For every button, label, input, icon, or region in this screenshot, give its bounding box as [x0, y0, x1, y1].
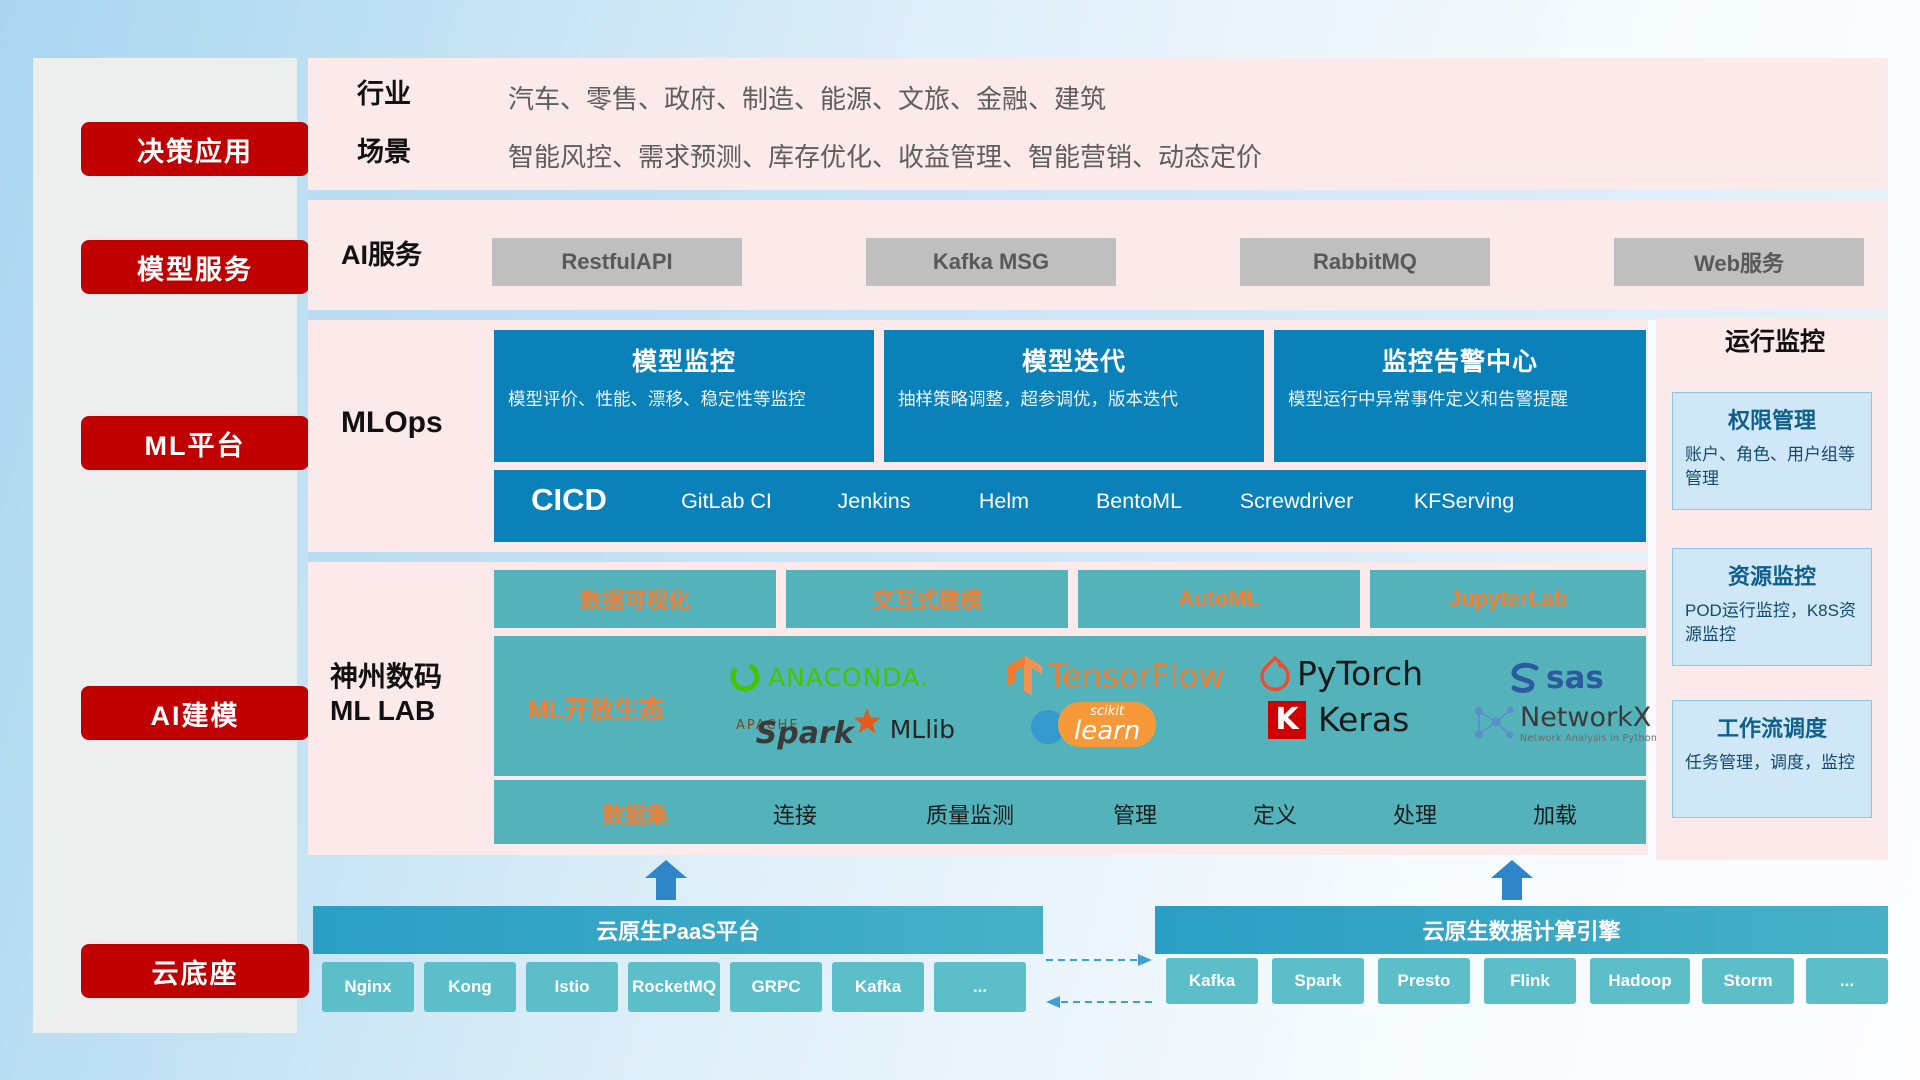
ml-lab-label-line1: 神州数码 [330, 660, 442, 694]
scikit-learn-badge: scikit learn [1058, 702, 1156, 747]
keras-logo: K Keras [1268, 700, 1409, 739]
cicd-item-kfserving[interactable]: KFServing [1384, 470, 1544, 515]
tensorflow-label: TensorFlow [1048, 657, 1225, 695]
tensorflow-logo: TensorFlow [1006, 654, 1225, 698]
band-separator-1 [308, 190, 1888, 200]
rail-item-decision-app[interactable]: 决策应用 [81, 122, 309, 176]
ai-service-restfulapi[interactable]: RestfulAPI [492, 238, 742, 286]
bidirectional-connector [1044, 940, 1154, 1020]
compute-chip-flink[interactable]: Flink [1484, 958, 1576, 1004]
runtime-monitor-title: 运行监控 [1680, 322, 1870, 358]
compute-up-arrow-icon [1489, 860, 1535, 900]
band-separator-3 [308, 552, 1648, 562]
mlops-card-model-monitor[interactable]: 模型监控 模型评价、性能、漂移、稳定性等监控 [494, 330, 874, 462]
sas-logo: sas [1508, 660, 1604, 696]
industry-value: 汽车、零售、政府、制造、能源、文旅、金融、建筑 [508, 79, 1106, 116]
dataset-process[interactable]: 处理 [1360, 798, 1470, 830]
mllib-label: MLlib [890, 715, 955, 744]
spark-mllib-logo: APACHE Spark MLlib [736, 700, 955, 751]
compute-engine-bar[interactable]: 云原生数据计算引擎 [1155, 906, 1888, 954]
spark-word: Spark [756, 716, 854, 751]
keras-icon: K [1268, 701, 1306, 739]
mlops-card-title: 监控告警中心 [1274, 330, 1646, 378]
ml-lab-tab-jupyterlab[interactable]: JupyterLab [1370, 570, 1646, 628]
rail-item-ml-platform[interactable]: ML平台 [81, 416, 309, 470]
pytorch-icon [1258, 655, 1292, 693]
mlops-card-title: 模型迭代 [884, 330, 1264, 378]
mlops-card-desc: 模型运行中异常事件定义和告警提醒 [1274, 378, 1646, 412]
industry-label: 行业 [357, 78, 411, 111]
dataset-manage[interactable]: 管理 [1080, 798, 1190, 830]
scikit-learn-logo: scikit learn [1028, 702, 1156, 747]
pytorch-logo: PyTorch [1258, 654, 1423, 693]
ml-lab-tab-interactive[interactable]: 交互式建模 [786, 570, 1068, 628]
paas-chip-grpc[interactable]: GRPC [730, 962, 822, 1012]
ai-service-rabbitmq[interactable]: RabbitMQ [1240, 238, 1490, 286]
rail-item-cloud-base[interactable]: 云底座 [81, 944, 309, 998]
dataset-define[interactable]: 定义 [1220, 798, 1330, 830]
paas-chip-kafka[interactable]: Kafka [832, 962, 924, 1012]
compute-chip-presto[interactable]: Presto [1378, 958, 1470, 1004]
dataset-load[interactable]: 加载 [1500, 798, 1610, 830]
mlops-card-model-iteration[interactable]: 模型迭代 抽样策略调整，超参调优，版本迭代 [884, 330, 1264, 462]
cicd-item-helm[interactable]: Helm [939, 470, 1069, 515]
compute-chip-kafka[interactable]: Kafka [1166, 958, 1258, 1004]
monitor-card-title: 权限管理 [1673, 393, 1871, 435]
mlops-card-desc: 抽样策略调整，超参调优，版本迭代 [884, 378, 1264, 412]
cicd-item-gitlab-ci[interactable]: GitLab CI [644, 470, 809, 515]
band-separator-2 [308, 310, 1888, 320]
cicd-label: CICD [494, 470, 644, 518]
monitor-card-workflow[interactable]: 工作流调度 任务管理，调度，监控 [1672, 700, 1872, 818]
compute-chip-storm[interactable]: Storm [1702, 958, 1794, 1004]
paas-chip-kong[interactable]: Kong [424, 962, 516, 1012]
dataset-connect[interactable]: 连接 [740, 798, 850, 830]
monitor-card-desc: 任务管理，调度，监控 [1673, 743, 1871, 775]
monitor-card-desc: 账户、角色、用户组等管理 [1673, 435, 1871, 491]
ml-lab-label-line2: ML LAB [330, 694, 442, 728]
mlops-label: MLOps [341, 405, 443, 442]
rail-item-model-service[interactable]: 模型服务 [81, 240, 309, 294]
monitor-card-desc: POD运行监控，K8S资源监控 [1673, 591, 1871, 647]
cicd-item-bentoml[interactable]: BentoML [1069, 470, 1209, 515]
cicd-bar: CICD GitLab CI Jenkins Helm BentoML Scre… [494, 470, 1646, 542]
networkx-tagline: Network Analysis in Python [1520, 733, 1657, 744]
paas-chip-istio[interactable]: Istio [526, 962, 618, 1012]
ai-service-label: AI服务 [341, 239, 422, 272]
sas-icon [1508, 661, 1544, 695]
architecture-diagram: 决策应用 模型服务 ML平台 AI建模 云底座 行业 汽车、零售、政府、制造、能… [0, 0, 1920, 1080]
mlops-card-desc: 模型评价、性能、漂移、稳定性等监控 [494, 378, 874, 412]
scene-value: 智能风控、需求预测、库存优化、收益管理、智能营销、动态定价 [508, 137, 1262, 174]
monitor-card-resource[interactable]: 资源监控 POD运行监控，K8S资源监控 [1672, 548, 1872, 666]
ai-service-web[interactable]: Web服务 [1614, 238, 1864, 286]
mlops-card-title: 模型监控 [494, 330, 874, 378]
paas-chip-nginx[interactable]: Nginx [322, 962, 414, 1012]
ml-lab-label: 神州数码 ML LAB [330, 660, 442, 728]
ml-lab-tab-automl[interactable]: AutoML [1078, 570, 1360, 628]
cicd-item-jenkins[interactable]: Jenkins [809, 470, 939, 515]
monitor-card-title: 资源监控 [1673, 549, 1871, 591]
anaconda-label: ANACONDA [768, 663, 920, 692]
mlops-card-alert-center[interactable]: 监控告警中心 模型运行中异常事件定义和告警提醒 [1274, 330, 1646, 462]
rail-item-ai-modeling[interactable]: AI建模 [81, 686, 309, 740]
learn-word: learn [1074, 718, 1140, 744]
paas-up-arrow-icon [643, 860, 689, 900]
scene-label: 场景 [357, 136, 411, 169]
ml-ecosystem-title: ML开放生态 [528, 690, 664, 726]
paas-chip-more[interactable]: ... [934, 962, 1026, 1012]
pytorch-label: PyTorch [1297, 654, 1423, 693]
ai-service-kafka-msg[interactable]: Kafka MSG [866, 238, 1116, 286]
networkx-logo: NetworkX Network Analysis in Python [1470, 702, 1657, 744]
cicd-item-screwdriver[interactable]: Screwdriver [1209, 470, 1384, 515]
tensorflow-icon [1006, 654, 1044, 698]
keras-label: Keras [1318, 700, 1409, 739]
anaconda-icon [728, 660, 762, 694]
left-rail: 决策应用 模型服务 ML平台 AI建模 云底座 [33, 58, 297, 1033]
dataset-title: 数据集 [560, 798, 710, 830]
ml-lab-tab-data-viz[interactable]: 数据可视化 [494, 570, 776, 628]
networkx-label: NetworkX [1520, 702, 1657, 733]
compute-chip-hadoop[interactable]: Hadoop [1590, 958, 1690, 1004]
compute-chip-spark[interactable]: Spark [1272, 958, 1364, 1004]
spark-star-icon [852, 707, 882, 737]
anaconda-dot: . [920, 663, 927, 692]
sas-label: sas [1546, 660, 1604, 696]
anaconda-logo: ANACONDA . [728, 660, 927, 694]
paas-platform-bar[interactable]: 云原生PaaS平台 [313, 906, 1043, 954]
monitor-card-title: 工作流调度 [1673, 701, 1871, 743]
dataset-quality[interactable]: 质量监测 [890, 798, 1050, 830]
networkx-icon [1470, 702, 1516, 744]
monitor-card-permission[interactable]: 权限管理 账户、角色、用户组等管理 [1672, 392, 1872, 510]
paas-chip-rocketmq[interactable]: RocketMQ [628, 962, 720, 1012]
compute-chip-more[interactable]: ... [1806, 958, 1888, 1004]
